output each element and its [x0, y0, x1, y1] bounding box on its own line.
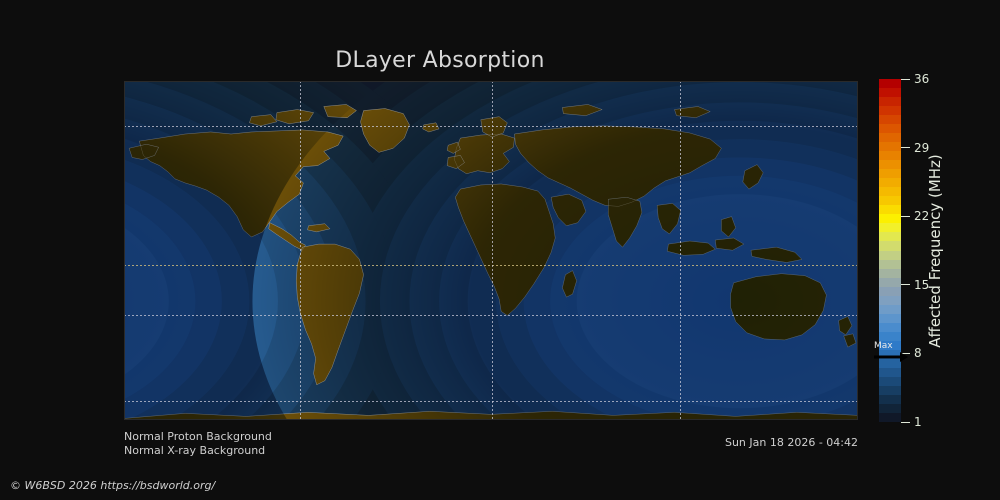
credit-line: © W6BSD 2026 https://bsdworld.org/: [10, 479, 215, 492]
colorbar-band: [879, 88, 901, 97]
colorbar-band: [879, 377, 901, 386]
colorbar-band: [879, 106, 901, 115]
colorbar-tick: 1: [901, 416, 922, 428]
colorbar-band: [879, 241, 901, 250]
colorbar-band: [879, 287, 901, 296]
colorbar-band: [879, 97, 901, 106]
colorbar-band: [879, 169, 901, 178]
dlayer-absorption-map-page: DLayer Absorption: [0, 0, 1000, 500]
colorbar-band: [879, 115, 901, 124]
colorbar-band: [879, 413, 901, 422]
colorbar-tick-mark: [901, 79, 910, 80]
gridline-equator: [124, 265, 858, 266]
colorbar-band: [879, 133, 901, 142]
colorbar-band: [879, 386, 901, 395]
colorbar-band: [879, 124, 901, 133]
colorbar-band: [879, 332, 901, 341]
colorbar-band: [879, 196, 901, 205]
colorbar-band: [879, 160, 901, 169]
colorbar-tick-label: 8: [914, 347, 922, 359]
land-masses: [124, 81, 858, 420]
colorbar-axis-title-text: Affected Frequency (MHz): [926, 154, 944, 348]
proton-background-status: Normal Proton Background: [124, 430, 272, 443]
colorbar-band: [879, 251, 901, 260]
gridline-lon-west: [300, 81, 301, 420]
world-map[interactable]: [124, 81, 858, 420]
colorbar-tick-mark: [901, 284, 910, 285]
colorbar-band: [879, 323, 901, 332]
colorbar-band: [879, 223, 901, 232]
max-arrow-icon: [874, 351, 908, 363]
colorbar-band: [879, 404, 901, 413]
colorbar-tick-mark: [901, 216, 910, 217]
colorbar-band: [879, 296, 901, 305]
colorbar-band: [879, 278, 901, 287]
colorbar-tick-mark: [901, 422, 910, 423]
colorbar-tick-label: 1: [914, 416, 922, 428]
max-marker: Max: [874, 341, 910, 363]
colorbar-band: [879, 260, 901, 269]
colorbar-tick-mark: [901, 147, 910, 148]
colorbar-band: [879, 314, 901, 323]
gridline-lat-60n: [124, 126, 858, 127]
gridline-lon-east: [680, 81, 681, 420]
colorbar-band: [879, 305, 901, 314]
gridline-lat-30s: [124, 315, 858, 316]
colorbar: [879, 79, 901, 422]
colorbar-band: [879, 178, 901, 187]
colorbar-band: [879, 368, 901, 377]
colorbar-band: [879, 232, 901, 241]
colorbar-axis-title: Affected Frequency (MHz): [922, 79, 948, 422]
timestamp: Sun Jan 18 2026 - 04:42: [560, 436, 858, 449]
gridline-lat-60s: [124, 401, 858, 402]
xray-background-status: Normal X-ray Background: [124, 444, 265, 457]
colorbar-band: [879, 79, 901, 88]
colorbar-band: [879, 151, 901, 160]
gridline-lon-prime: [492, 81, 493, 420]
colorbar-band: [879, 205, 901, 214]
colorbar-band: [879, 395, 901, 404]
max-marker-label: Max: [874, 341, 893, 351]
colorbar-band: [879, 269, 901, 278]
page-title: DLayer Absorption: [0, 48, 880, 73]
colorbar-band: [879, 187, 901, 196]
colorbar-band: [879, 214, 901, 223]
colorbar-band: [879, 142, 901, 151]
